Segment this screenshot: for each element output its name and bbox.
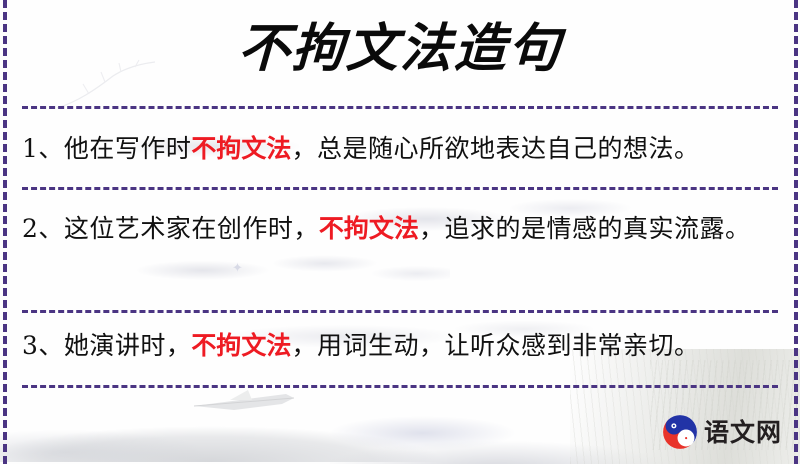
yinyang-logo-icon	[662, 414, 698, 450]
site-logo[interactable]: 语文网	[662, 414, 782, 450]
sentence-item-3: 3、她演讲时，不拘文法，用词生动，让听众感到非常亲切。	[22, 325, 778, 366]
keyword-highlight: 不拘文法	[319, 214, 419, 243]
sentence-text: ，追求的是情感的真实流露。	[419, 214, 751, 243]
frame-border-left	[3, 0, 7, 464]
content-area: 不拘文法造句 1、他在写作时不拘文法，总是随心所欲地表达自己的想法。 2、这位艺…	[0, 0, 800, 464]
sentence-text: 这位艺术家在创作时，	[64, 214, 319, 243]
sentence-index: 2、	[22, 214, 64, 243]
sentence-text: 她演讲时，	[64, 331, 192, 360]
sentence-text: 他在写作时	[64, 134, 192, 163]
sentence-index: 3、	[22, 331, 64, 360]
keyword-highlight: 不拘文法	[191, 134, 291, 163]
sentence-item-1: 1、他在写作时不拘文法，总是随心所欲地表达自己的想法。	[22, 128, 778, 169]
site-logo-text: 语文网	[704, 420, 782, 445]
frame-border-right	[794, 0, 798, 464]
slide-page: ✦ 不拘文法造句 1、他在写作时不拘文法，总是随心所欲地表达自己的想法。 2、这…	[0, 0, 800, 464]
sentence-index: 1、	[22, 134, 64, 163]
page-title: 不拘文法造句	[0, 18, 800, 79]
sentence-item-2: 2、这位艺术家在创作时，不拘文法，追求的是情感的真实流露。	[22, 208, 778, 249]
keyword-highlight: 不拘文法	[191, 331, 291, 360]
sentence-text: ，总是随心所欲地表达自己的想法。	[291, 134, 699, 163]
sentence-text: ，用词生动，让听众感到非常亲切。	[291, 331, 699, 360]
